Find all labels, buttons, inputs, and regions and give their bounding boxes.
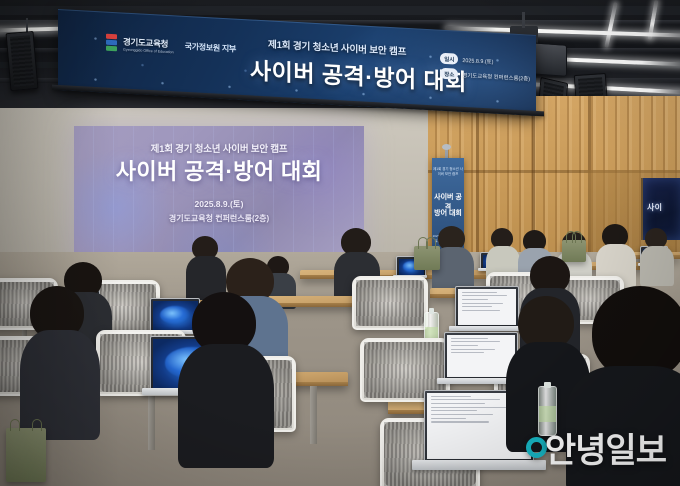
- banner-info-label: 일시: [440, 53, 458, 65]
- tote-bag: [414, 246, 440, 270]
- banner-info-label: 장소: [440, 68, 458, 80]
- projection-screen: 제1회 경기 청소년 사이버 보안 캠프 사이버 공격·방어 대회 2025.8…: [74, 126, 364, 266]
- banner-info-value: 2025.8.9.(토): [462, 55, 493, 65]
- standee-top-text: 제1회 경기 청소년 사이버 보안 캠프: [432, 167, 464, 177]
- banner-info-block: 일시 2025.8.9.(토) 장소 경기도교육청 컨퍼런스룸(2층): [440, 53, 530, 84]
- chair: [352, 276, 428, 330]
- screen-date: 2025.8.9.(토): [74, 198, 364, 210]
- standee-line2: 방어 대회: [432, 208, 464, 218]
- banner-org-second: 국가정보원 지부: [185, 41, 236, 55]
- screen-place: 경기도교육청 컨퍼런스룸(2층): [74, 213, 364, 224]
- banner-org-main: 경기도교육청 Gyeonggido Office of Education: [123, 35, 174, 54]
- ceiling-speaker: [6, 31, 39, 91]
- watermark-text: 안녕일보: [545, 423, 666, 472]
- screen-title: 사이버 공격·방어 대회: [74, 154, 364, 186]
- side-display-text: 사이: [647, 202, 662, 213]
- watermark-logo: 안녕일보: [526, 423, 666, 472]
- photo-canvas: 사이 경기도교육청 Gyeonggido Office of Education…: [0, 0, 680, 486]
- screen-subtitle: 제1회 경기 청소년 사이버 보안 캠프: [74, 141, 364, 155]
- tote-bag: [6, 428, 46, 482]
- tote-bag: [562, 240, 586, 262]
- banner-info-value: 경기도교육청 컨퍼런스룸(2층): [462, 70, 530, 82]
- gyeonggi-crest-icon: [106, 34, 117, 52]
- watermark-circle-icon: [526, 437, 547, 458]
